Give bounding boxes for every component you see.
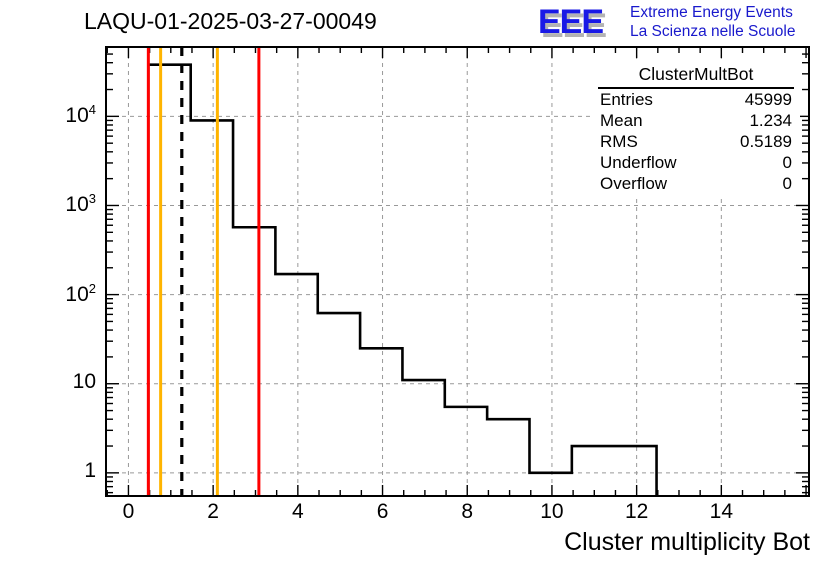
stats-row: Overflow0 [592, 173, 800, 194]
y-tick-label: 103 [0, 191, 96, 217]
stats-row-value: 45999 [745, 90, 792, 110]
x-tick-label: 2 [207, 500, 219, 524]
plot-canvas: LAQU-01-2025-03-27-00049 EEE EEE Extreme… [0, 0, 836, 572]
y-tick-label: 104 [0, 102, 96, 128]
x-tick-label: 14 [710, 500, 733, 524]
x-tick-label: 8 [461, 500, 473, 524]
x-tick-label: 10 [540, 500, 563, 524]
y-tick-label: 10 [0, 370, 96, 394]
stats-row: Entries45999 [592, 89, 800, 110]
x-tick-label: 12 [625, 500, 648, 524]
stats-row: Underflow0 [592, 152, 800, 173]
stats-rows: Entries45999Mean1.234RMS0.5189Underflow0… [592, 89, 800, 194]
x-axis-title: Cluster multiplicity Bot [564, 528, 810, 557]
y-tick-label: 1 [0, 459, 96, 483]
stats-row: Mean1.234 [592, 110, 800, 131]
stats-row-key: RMS [600, 132, 638, 152]
stats-row-key: Entries [600, 90, 653, 110]
stats-row: RMS0.5189 [592, 131, 800, 152]
x-tick-label: 0 [123, 500, 135, 524]
stats-box: ClusterMultBot Entries45999Mean1.234RMS0… [592, 62, 800, 197]
stats-row-value: 0 [783, 174, 792, 194]
stats-row-value: 1.234 [749, 111, 792, 131]
y-tick-label: 102 [0, 281, 96, 307]
x-tick-label: 4 [292, 500, 304, 524]
stats-row-key: Overflow [600, 174, 667, 194]
stats-row-key: Mean [600, 111, 643, 131]
stats-row-key: Underflow [600, 153, 677, 173]
stats-row-value: 0 [783, 153, 792, 173]
stats-title: ClusterMultBot [598, 62, 794, 89]
x-tick-label: 6 [377, 500, 389, 524]
stats-row-value: 0.5189 [740, 132, 792, 152]
